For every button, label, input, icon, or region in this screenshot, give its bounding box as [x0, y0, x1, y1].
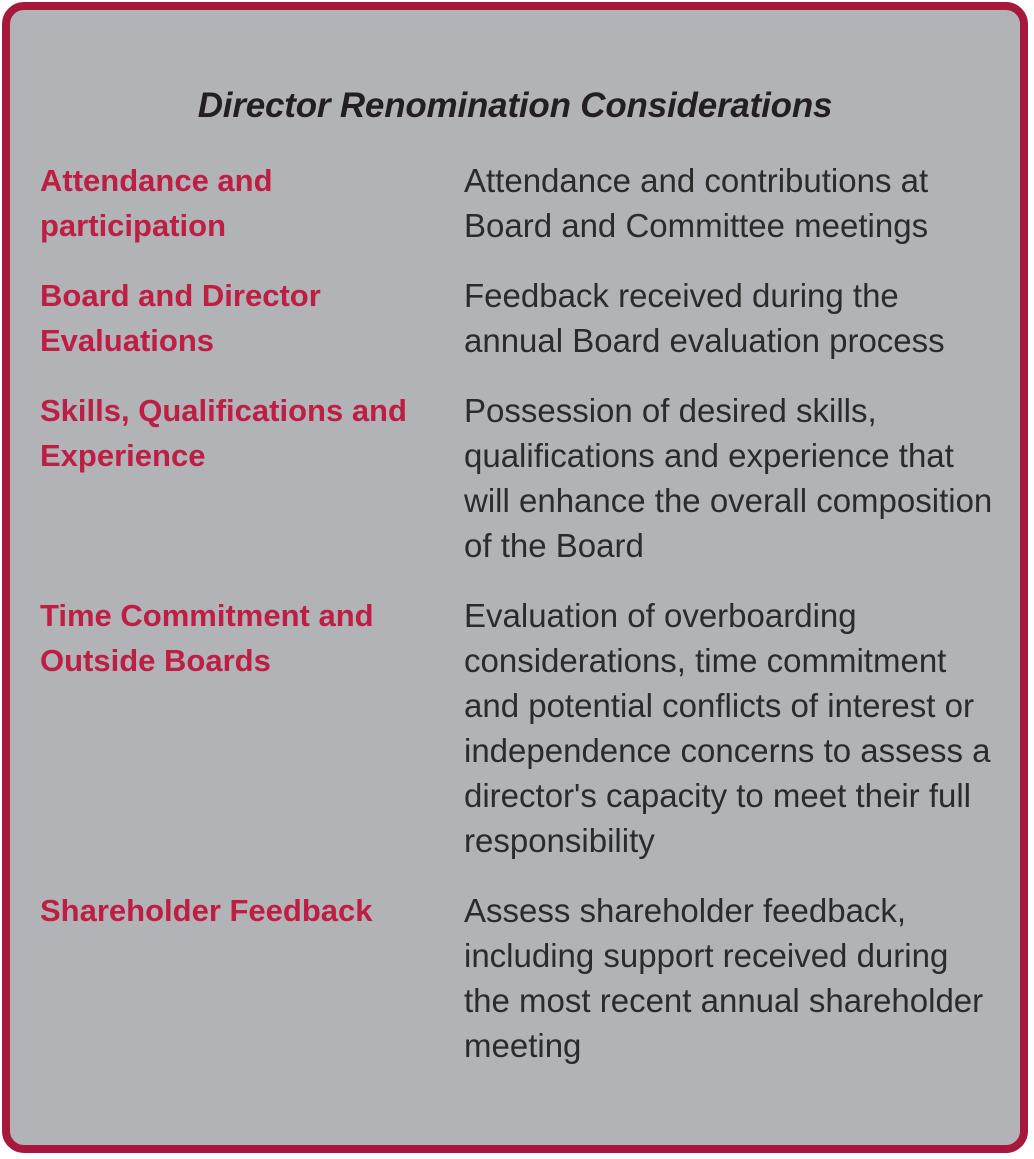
- consideration-description-shareholder-feedback: Assess shareholder feedback, including s…: [464, 888, 1000, 1068]
- table-row: Skills, Qualifications and Experience Po…: [40, 388, 1000, 568]
- consideration-description-board-and-director-evaluations: Feedback received during the annual Boar…: [464, 273, 1000, 363]
- consideration-label-board-and-director-evaluations: Board and Director Evaluations: [40, 273, 464, 363]
- page-title: Director Renomination Considerations: [10, 86, 1020, 126]
- consideration-label-time-commitment-and-outside-boards: Time Commitment and Outside Boards: [40, 593, 464, 683]
- table-row: Time Commitment and Outside Boards Evalu…: [40, 593, 1000, 863]
- consideration-description-skills-qualifications-and-experience: Possession of desired skills, qualificat…: [464, 388, 1000, 568]
- considerations-table: Attendance and participation Attendance …: [40, 158, 1000, 1068]
- consideration-description-attendance-and-participation: Attendance and contributions at Board an…: [464, 158, 1000, 248]
- considerations-card: Director Renomination Considerations Att…: [2, 2, 1028, 1153]
- consideration-label-skills-qualifications-and-experience: Skills, Qualifications and Experience: [40, 388, 464, 478]
- table-row: Board and Director Evaluations Feedback …: [40, 273, 1000, 363]
- consideration-label-shareholder-feedback: Shareholder Feedback: [40, 888, 464, 933]
- consideration-description-time-commitment-and-outside-boards: Evaluation of overboarding consideration…: [464, 593, 1000, 863]
- consideration-label-attendance-and-participation: Attendance and participation: [40, 158, 464, 248]
- table-row: Shareholder Feedback Assess shareholder …: [40, 888, 1000, 1068]
- table-row: Attendance and participation Attendance …: [40, 158, 1000, 248]
